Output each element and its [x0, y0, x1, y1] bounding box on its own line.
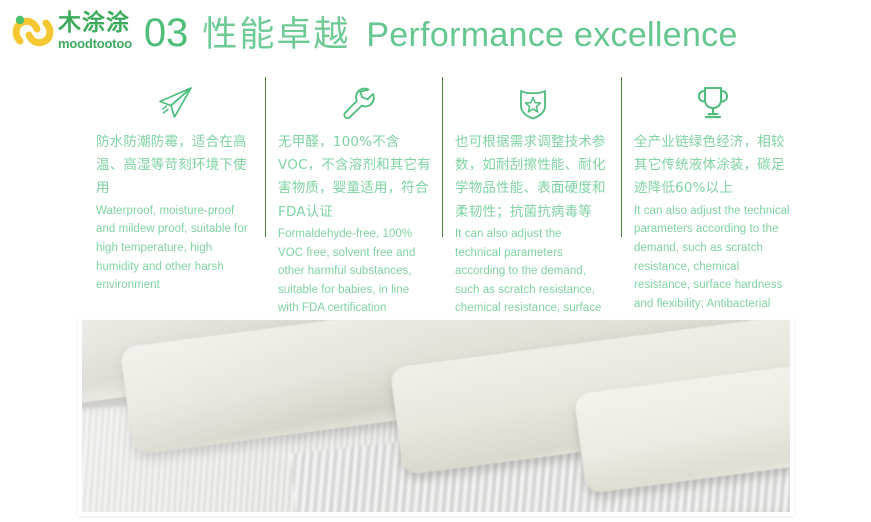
feature-text-en: Formaldehyde-free, 100% VOC free, solven… — [278, 225, 431, 318]
section-title: 03 性能卓越 Performance excellence — [144, 6, 738, 57]
feature-column-2: 无甲醛，100%不含VOC，不含溶剂和其它有害物质，婴童适用，符合FDA认证 F… — [266, 75, 443, 305]
product-photo-frame — [78, 316, 794, 516]
feature-text-en: It can also adjust the technical paramet… — [634, 202, 792, 332]
feature-text-cn: 无甲醛，100%不含VOC，不含溶剂和其它有害物质，婴童适用，符合FDA认证 — [278, 131, 431, 224]
feature-column-1: 防水防潮防霉，适合在高温、高湿等苛刻环境下使用 Waterproof, mois… — [84, 75, 266, 305]
section-number: 03 — [144, 11, 189, 56]
brand-wordmark: 木涂涂 moodtootoo — [58, 12, 132, 50]
feature-column-4: 全产业链绿色经济，相较其它传统液体涂装，碳足迹降低60%以上 It can al… — [622, 75, 804, 305]
feature-text-cn: 全产业链绿色经济，相较其它传统液体涂装，碳足迹降低60%以上 — [634, 131, 792, 201]
trophy-icon — [634, 75, 792, 131]
brand-name-en: moodtootoo — [58, 37, 132, 50]
feature-text-cn: 防水防潮防霉，适合在高温、高湿等苛刻环境下使用 — [96, 131, 254, 201]
section-title-en: Performance excellence — [366, 16, 737, 55]
section-title-cn: 性能卓越 — [202, 6, 350, 57]
shield-star-icon — [455, 75, 610, 131]
feature-column-3: 也可根据需求调整技术参数，如耐刮擦性能、耐化学物品性能、表面硬度和柔韧性；抗菌抗… — [443, 75, 622, 305]
feature-text-en: Waterproof, moisture-proof and mildew pr… — [96, 202, 254, 295]
feature-columns: 防水防潮防霉，适合在高温、高湿等苛刻环境下使用 Waterproof, mois… — [84, 75, 804, 305]
feature-text-cn: 也可根据需求调整技术参数，如耐刮擦性能、耐化学物品性能、表面硬度和柔韧性；抗菌抗… — [455, 131, 610, 224]
product-photo — [82, 320, 790, 512]
page-header: 木涂涂 moodtootoo 03 性能卓越 Performance excel… — [0, 0, 871, 62]
paper-plane-icon — [96, 75, 254, 131]
swirl-logo-icon — [10, 8, 56, 54]
wrench-icon — [278, 75, 431, 131]
brand-logo: 木涂涂 moodtootoo — [10, 8, 132, 54]
brand-name-cn: 木涂涂 — [58, 12, 132, 35]
